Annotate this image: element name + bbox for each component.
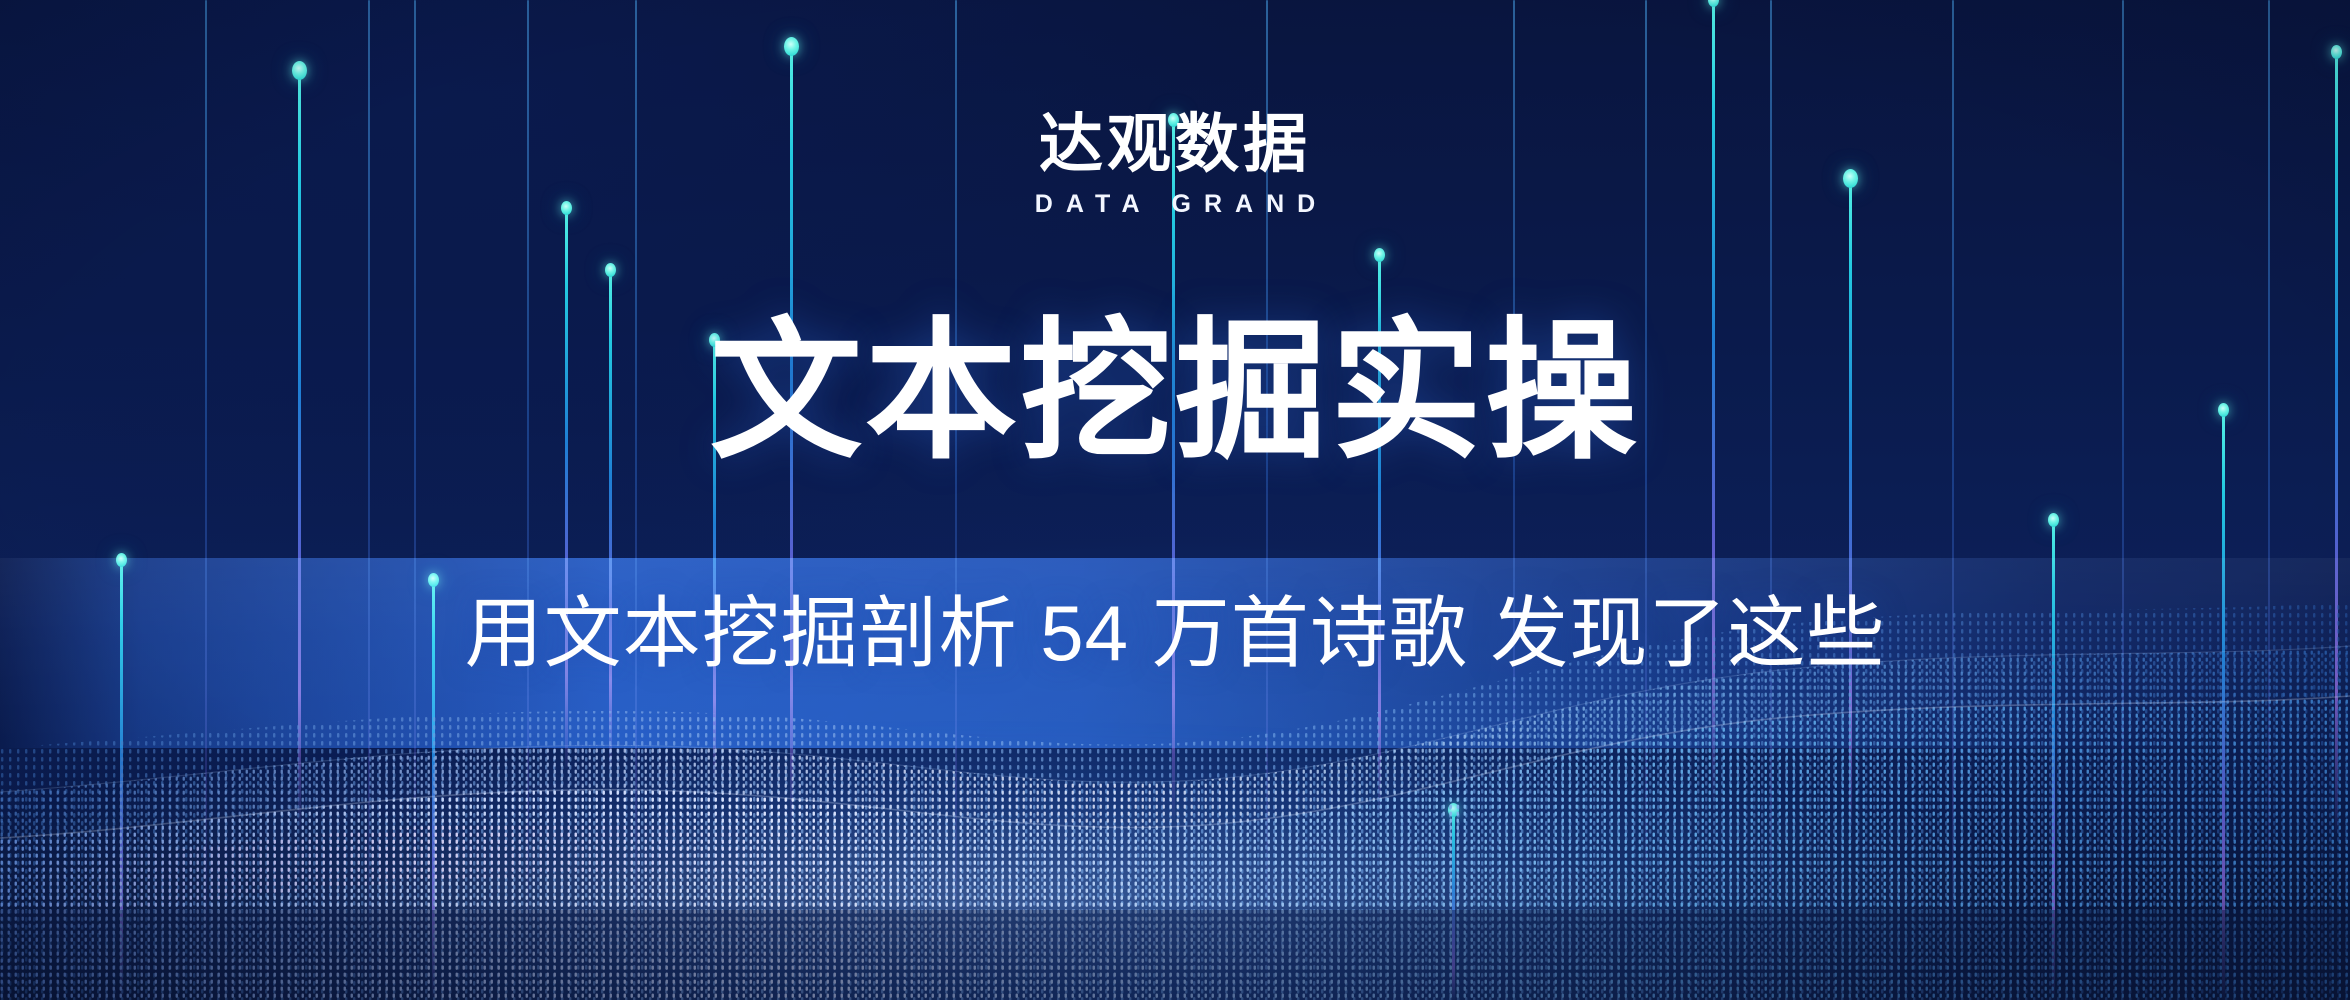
page-subtitle: 用文本挖掘剖析 54 万首诗歌 发现了这些 [0, 594, 2350, 672]
brand-name-en: DATA GRAND [0, 192, 2350, 217]
promo-banner: 达观数据 DATA GRAND 文本挖掘实操 用文本挖掘剖析 54 万首诗歌 发… [0, 0, 2350, 1000]
page-title: 文本挖掘实操 [0, 316, 2350, 468]
brand-name-cn: 达观数据 [0, 112, 2350, 176]
brand-logo: 达观数据 DATA GRAND [0, 112, 2350, 217]
